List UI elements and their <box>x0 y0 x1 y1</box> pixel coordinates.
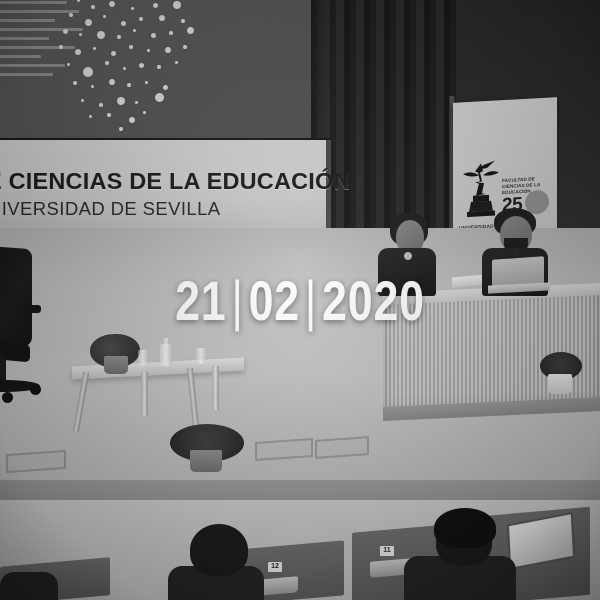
dot-cluster-network-icon <box>0 0 311 141</box>
giralda-emblem-icon <box>461 158 501 218</box>
wall-sign-line-2: NIVERSIDAD DE SEVILLA <box>0 198 221 220</box>
seat-number-label: 12 <box>268 562 282 572</box>
office-chair-backrest <box>0 245 32 347</box>
stage-curtain <box>330 0 460 236</box>
floor-fern-pot <box>190 450 222 472</box>
floor-box-outlet <box>315 436 369 459</box>
office-chair-armrest <box>25 305 41 313</box>
desk-side-plant-pot <box>548 374 572 394</box>
floor-box-outlet <box>255 438 313 461</box>
drinking-glass <box>196 348 206 364</box>
coffee-table-leg <box>141 372 148 416</box>
office-chair-caster <box>2 392 13 403</box>
audience-person-body <box>0 572 58 600</box>
office-chair-caster <box>30 384 41 395</box>
projection-screen <box>0 0 316 146</box>
date-overlay: 21|02|2020 <box>60 272 540 330</box>
panelist-woman-necklace <box>404 252 412 260</box>
water-bottle <box>160 344 172 366</box>
audience-person-cap <box>434 508 496 548</box>
drinking-glass <box>138 350 148 366</box>
audience-person-head <box>190 524 248 576</box>
photo-canvas: E CIENCIAS DE LA EDUCACIÓN NIVERSIDAD DE… <box>0 0 600 600</box>
banner-heading: FACULTAD DE CIENCIAS DE LA EDUCACIÓN <box>502 175 556 197</box>
date-month: 02 <box>249 269 300 332</box>
date-separator-2: | <box>300 272 322 330</box>
seat-number-label: 11 <box>380 546 394 556</box>
date-separator-1: | <box>227 272 249 330</box>
date-day: 21 <box>175 269 226 332</box>
coffee-table-leg <box>212 366 219 410</box>
table-plant-pot <box>104 356 128 374</box>
date-year: 2020 <box>322 269 425 332</box>
wall-sign-line-1: E CIENCIAS DE LA EDUCACIÓN <box>0 168 351 195</box>
